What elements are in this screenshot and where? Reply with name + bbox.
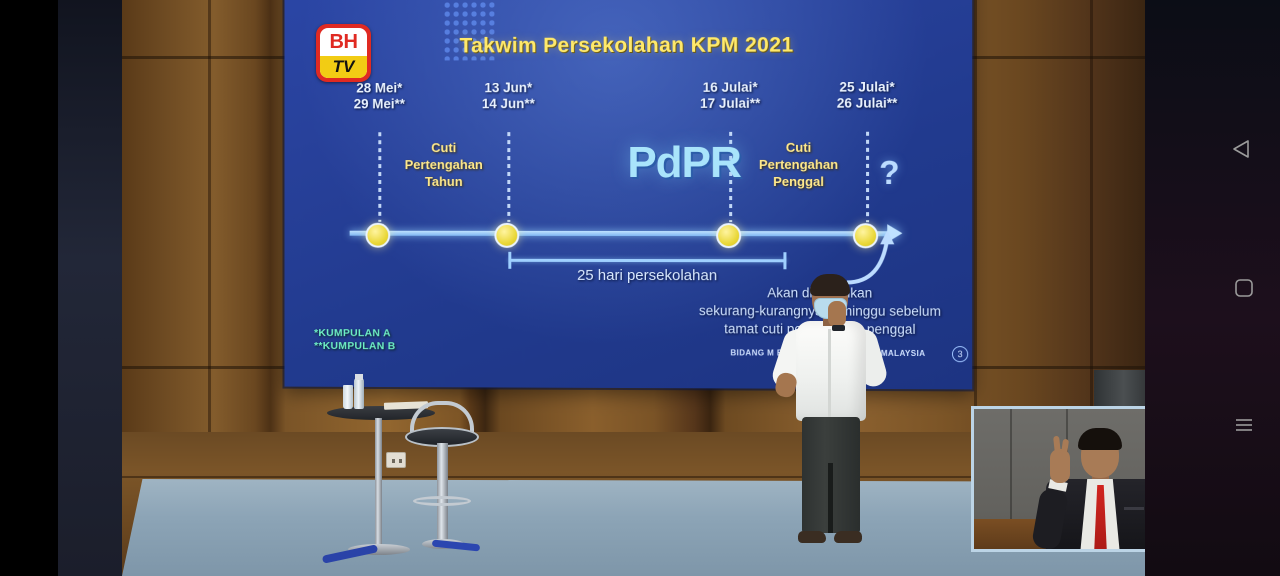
milestone-date-3-line1: 16 Julai* xyxy=(655,80,806,96)
home-square-icon xyxy=(1229,273,1259,303)
milestone-date-4: 25 Julai* 26 Julai** xyxy=(791,79,942,111)
letterbox-left xyxy=(0,0,58,576)
recents-button[interactable] xyxy=(1229,410,1259,440)
slide-legend: *KUMPULAN A **KUMPULAN B xyxy=(314,327,395,353)
wall-panel-divider xyxy=(974,0,977,432)
holiday-1-line3: Tahun xyxy=(364,173,523,190)
wall-panel-divider xyxy=(208,0,211,432)
presenter-right-shoe xyxy=(834,531,862,543)
video-player-surface[interactable]: Takwim Persekolahan KPM 2021 28 Mei* 29 … xyxy=(122,0,1145,576)
milestone-date-2-line2: 14 Jun** xyxy=(434,96,583,112)
wall-panel-divider xyxy=(1090,0,1093,432)
wristwatch xyxy=(832,325,845,331)
drinking-glass xyxy=(343,385,353,409)
milestone-date-4-line2: 26 Julai** xyxy=(791,95,942,111)
question-mark-icon: ? xyxy=(879,154,899,192)
presenter-right-hand xyxy=(828,301,846,327)
water-bottle xyxy=(354,378,364,409)
milestone-date-2-line1: 13 Jun* xyxy=(434,80,583,96)
presenter-shirt xyxy=(796,321,866,421)
timeline-node xyxy=(494,223,519,248)
home-button[interactable] xyxy=(1229,273,1259,303)
letterbox-right xyxy=(1145,0,1280,576)
timeline-axis xyxy=(350,231,890,237)
timeline-node xyxy=(716,223,741,248)
bottle-cap xyxy=(355,374,363,380)
holiday-1-line1: Cuti xyxy=(364,139,523,156)
pdpr-phase-label: PdPR xyxy=(584,138,784,188)
holiday-1-line2: Pertengahan xyxy=(364,156,523,173)
sign-language-interpreter-inset xyxy=(971,406,1145,552)
presenter-leg-gap xyxy=(828,463,833,533)
holiday-label-mid-year: Cuti Pertengahan Tahun xyxy=(364,139,523,190)
channel-logo-bhtv: BH TV xyxy=(316,24,371,82)
legend-group-b: **KUMPULAN B xyxy=(314,340,395,353)
presenter-left-shoe xyxy=(798,531,826,543)
milestone-date-1-line1: 28 Mei* xyxy=(305,80,453,96)
screen-root: Takwim Persekolahan KPM 2021 28 Mei* 29 … xyxy=(0,0,1280,576)
milestone-date-1-line2: 29 Mei** xyxy=(305,96,453,112)
milestone-date-1: 28 Mei* 29 Mei** xyxy=(305,80,453,112)
interpreter-wall-divider xyxy=(1010,409,1012,527)
table-stem xyxy=(375,418,382,548)
logo-text-tv: TV xyxy=(320,56,367,78)
stool-stem xyxy=(437,443,448,543)
presenter-shirt-placket xyxy=(828,329,831,417)
interpreter-hair xyxy=(1078,428,1122,450)
milestone-date-3: 16 Julai* 17 Julai** xyxy=(655,80,806,112)
stool-footring xyxy=(413,496,471,506)
milestone-date-3-line2: 17 Julai** xyxy=(655,96,806,112)
school-days-span-bar xyxy=(508,259,786,262)
milestone-date-4-line1: 25 Julai* xyxy=(791,79,942,95)
timeline-node xyxy=(365,223,390,248)
milestone-date-2: 13 Jun* 14 Jun** xyxy=(434,80,583,112)
slide-title: Takwim Persekolahan KPM 2021 xyxy=(284,33,972,59)
interpreter-pocket xyxy=(1124,507,1144,510)
presenter-hair xyxy=(810,274,850,296)
interpreter-signing-hand xyxy=(1050,449,1070,483)
back-triangle-icon xyxy=(1228,134,1258,164)
presenter-figure xyxy=(770,277,888,553)
hamburger-menu-icon xyxy=(1229,410,1259,440)
slide-page-number: 3 xyxy=(952,346,968,362)
back-button[interactable] xyxy=(1228,134,1258,164)
letterbox-navy-panel xyxy=(58,0,122,576)
wall-power-socket xyxy=(386,452,406,468)
logo-text-bh: BH xyxy=(320,28,367,56)
legend-group-a: *KUMPULAN A xyxy=(314,327,395,340)
